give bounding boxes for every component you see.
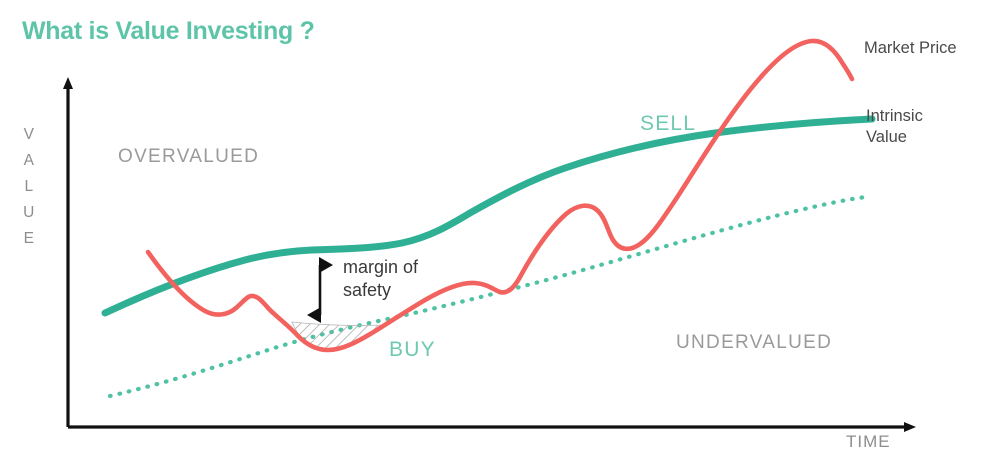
legend-label-intrinsic-value-line1: Intrinsic xyxy=(866,106,923,127)
zone-label-undervalued: UNDERVALUED xyxy=(676,332,832,354)
annotation-margin-line2: safety xyxy=(343,279,418,302)
chart-canvas: What is Value Investing ? V A L U E TIME xyxy=(0,0,1002,476)
intrinsic-value-band-dotted xyxy=(110,197,866,396)
signal-label-sell: SELL xyxy=(640,112,696,136)
legend-label-market-price: Market Price xyxy=(864,38,957,59)
legend-label-intrinsic-value: Intrinsic Value xyxy=(866,106,923,148)
annotation-margin-of-safety: margin of safety xyxy=(343,256,418,302)
chart-plot-area xyxy=(0,0,1002,476)
annotation-margin-line1: margin of xyxy=(343,256,418,279)
legend-label-intrinsic-value-line2: Value xyxy=(866,127,923,148)
signal-label-buy: BUY xyxy=(389,338,436,362)
zone-label-overvalued: OVERVALUED xyxy=(118,146,259,168)
